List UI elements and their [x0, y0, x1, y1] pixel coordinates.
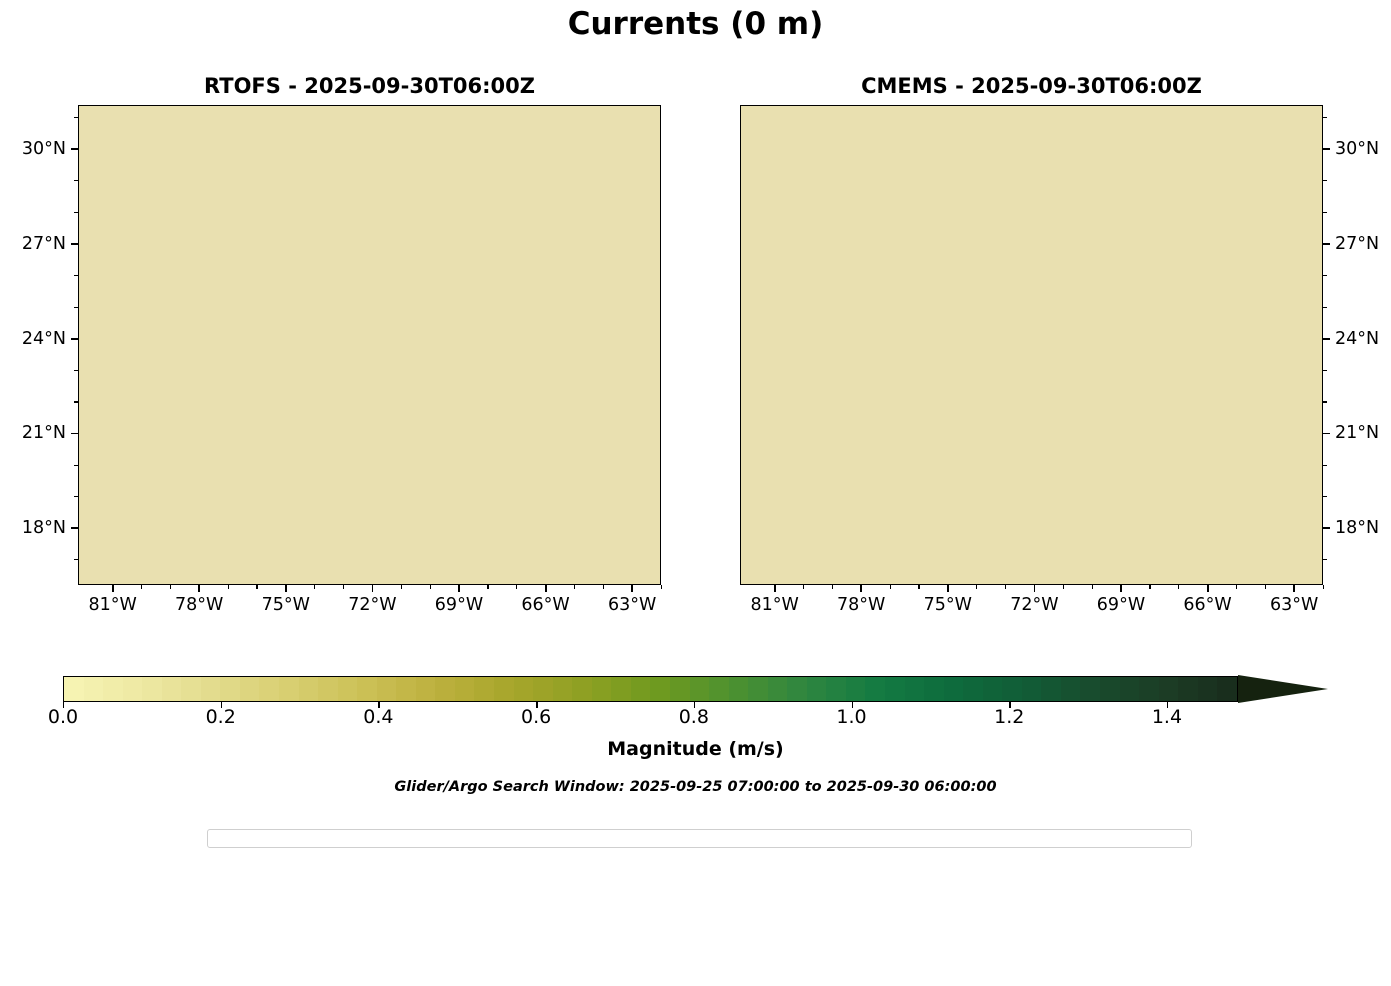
- x-tick-cmems: [774, 585, 776, 592]
- colorbar-band: [1217, 677, 1237, 701]
- x-tick-label-cmems: 81°W: [727, 595, 823, 615]
- figure-canvas: Currents (0 m) RTOFS - 2025-09-30T06:00Z…: [0, 0, 1391, 986]
- colorbar-tick-label: 0.4: [333, 706, 423, 728]
- x-minor-tick-rtofs: [343, 585, 344, 589]
- x-minor-tick-cmems: [1236, 585, 1237, 589]
- x-tick-rtofs: [545, 585, 547, 592]
- colorbar-band: [631, 677, 651, 701]
- colorbar-tick-label: 1.2: [964, 706, 1054, 728]
- x-tick-label-cmems: 72°W: [986, 595, 1082, 615]
- colorbar-band: [201, 677, 221, 701]
- y-minor-tick-cmems: [1323, 117, 1327, 118]
- colorbar-band: [162, 677, 182, 701]
- colorbar-band: [983, 677, 1003, 701]
- colorbar-band: [1159, 677, 1179, 701]
- colorbar-tick-label: 0.2: [176, 706, 266, 728]
- y-tick-label-cmems: 21°N: [1335, 423, 1391, 443]
- colorbar-tick-label: 0.6: [491, 706, 581, 728]
- colorbar-band: [142, 677, 162, 701]
- y-tick-label-rtofs: 30°N: [0, 139, 66, 159]
- colorbar-band: [1002, 677, 1022, 701]
- x-minor-tick-cmems: [1323, 585, 1324, 589]
- x-tick-label-cmems: 69°W: [1073, 595, 1169, 615]
- colorbar-band: [1022, 677, 1042, 701]
- y-tick-label-rtofs: 27°N: [0, 234, 66, 254]
- y-minor-tick-cmems: [1323, 180, 1327, 181]
- colorbar-band: [494, 677, 514, 701]
- x-minor-tick-rtofs: [516, 585, 517, 589]
- colorbar-axis-label: Magnitude (m/s): [0, 738, 1391, 760]
- y-tick-cmems: [1323, 433, 1330, 435]
- y-minor-tick-rtofs: [74, 180, 78, 181]
- colorbar-band: [181, 677, 201, 701]
- colorbar-band: [64, 677, 84, 701]
- colorbar-gradient: [63, 676, 1238, 702]
- colorbar-band: [826, 677, 846, 701]
- x-minor-tick-rtofs: [228, 585, 229, 589]
- x-tick-label-cmems: 78°W: [813, 595, 909, 615]
- y-tick-label-cmems: 24°N: [1335, 329, 1391, 349]
- y-minor-tick-cmems: [1323, 275, 1327, 276]
- colorbar-band: [768, 677, 788, 701]
- x-tick-label-rtofs: 66°W: [498, 595, 594, 615]
- colorbar-band: [611, 677, 631, 701]
- colorbar-tick-label: 0.8: [649, 706, 739, 728]
- y-minor-tick-rtofs: [74, 465, 78, 466]
- x-tick-cmems: [947, 585, 949, 592]
- colorbar[interactable]: [63, 676, 1328, 702]
- platform-legend[interactable]: [207, 829, 1192, 848]
- x-minor-tick-rtofs: [603, 585, 604, 589]
- x-tick-label-rtofs: 72°W: [324, 595, 420, 615]
- colorbar-band: [709, 677, 729, 701]
- y-tick-cmems: [1323, 527, 1330, 529]
- y-minor-tick-cmems: [1323, 496, 1327, 497]
- y-tick-rtofs: [71, 527, 78, 529]
- x-minor-tick-rtofs: [661, 585, 662, 589]
- colorbar-band: [729, 677, 749, 701]
- y-minor-tick-cmems: [1323, 465, 1327, 466]
- colorbar-band: [885, 677, 905, 701]
- colorbar-band: [572, 677, 592, 701]
- x-tick-rtofs: [112, 585, 114, 592]
- page-title: Currents (0 m): [0, 6, 1391, 42]
- colorbar-band: [553, 677, 573, 701]
- colorbar-band: [1080, 677, 1100, 701]
- colorbar-band: [963, 677, 983, 701]
- x-minor-tick-cmems: [1063, 585, 1064, 589]
- x-minor-tick-cmems: [803, 585, 804, 589]
- colorbar-band: [338, 677, 358, 701]
- colorbar-band: [220, 677, 240, 701]
- colorbar-band: [690, 677, 710, 701]
- y-tick-label-rtofs: 18°N: [0, 518, 66, 538]
- x-tick-rtofs: [198, 585, 200, 592]
- x-minor-tick-rtofs: [487, 585, 488, 589]
- colorbar-band: [103, 677, 123, 701]
- y-tick-label-rtofs: 24°N: [0, 329, 66, 349]
- y-minor-tick-cmems: [1323, 401, 1327, 402]
- x-tick-rtofs: [631, 585, 633, 592]
- colorbar-band: [846, 677, 866, 701]
- x-minor-tick-cmems: [1178, 585, 1179, 589]
- x-minor-tick-cmems: [976, 585, 977, 589]
- x-minor-tick-rtofs: [256, 585, 257, 589]
- x-minor-tick-rtofs: [314, 585, 315, 589]
- colorbar-band: [259, 677, 279, 701]
- y-minor-tick-cmems: [1323, 559, 1327, 560]
- colorbar-band: [1178, 677, 1198, 701]
- x-minor-tick-cmems: [1149, 585, 1150, 589]
- colorbar-band: [944, 677, 964, 701]
- y-tick-cmems: [1323, 243, 1330, 245]
- colorbar-band: [670, 677, 690, 701]
- y-minor-tick-rtofs: [74, 307, 78, 308]
- x-minor-tick-cmems: [1265, 585, 1266, 589]
- y-tick-label-cmems: 27°N: [1335, 234, 1391, 254]
- x-tick-label-rtofs: 75°W: [238, 595, 334, 615]
- y-minor-tick-cmems: [1323, 307, 1327, 308]
- y-minor-tick-rtofs: [74, 496, 78, 497]
- x-tick-rtofs: [458, 585, 460, 592]
- colorbar-band: [435, 677, 455, 701]
- x-tick-rtofs: [285, 585, 287, 592]
- x-minor-tick-cmems: [890, 585, 891, 589]
- x-minor-tick-cmems: [1005, 585, 1006, 589]
- x-tick-cmems: [1207, 585, 1209, 592]
- colorbar-band: [592, 677, 612, 701]
- y-minor-tick-rtofs: [74, 401, 78, 402]
- colorbar-band: [123, 677, 143, 701]
- colorbar-band: [1061, 677, 1081, 701]
- colorbar-band: [299, 677, 319, 701]
- x-tick-rtofs: [372, 585, 374, 592]
- x-tick-cmems: [1034, 585, 1036, 592]
- panel-title-cmems: CMEMS - 2025-09-30T06:00Z: [740, 74, 1323, 98]
- y-tick-rtofs: [71, 338, 78, 340]
- colorbar-band: [318, 677, 338, 701]
- x-tick-label-rtofs: 81°W: [65, 595, 161, 615]
- x-minor-tick-rtofs: [430, 585, 431, 589]
- y-tick-rtofs: [71, 433, 78, 435]
- x-minor-tick-cmems: [832, 585, 833, 589]
- colorbar-band: [377, 677, 397, 701]
- colorbar-band: [905, 677, 925, 701]
- colorbar-band: [787, 677, 807, 701]
- colorbar-tick-label: 1.0: [807, 706, 897, 728]
- x-minor-tick-rtofs: [401, 585, 402, 589]
- x-minor-tick-cmems: [918, 585, 919, 589]
- map-panel-rtofs[interactable]: [78, 105, 661, 585]
- colorbar-extend-max-arrow: [1238, 675, 1328, 703]
- y-minor-tick-rtofs: [74, 370, 78, 371]
- colorbar-band: [357, 677, 377, 701]
- colorbar-band: [807, 677, 827, 701]
- colorbar-band: [514, 677, 534, 701]
- colorbar-band: [1120, 677, 1140, 701]
- colorbar-band: [455, 677, 475, 701]
- colorbar-band: [865, 677, 885, 701]
- y-minor-tick-rtofs: [74, 275, 78, 276]
- y-minor-tick-cmems: [1323, 370, 1327, 371]
- x-tick-label-rtofs: 78°W: [151, 595, 247, 615]
- colorbar-band: [924, 677, 944, 701]
- panel-title-rtofs: RTOFS - 2025-09-30T06:00Z: [78, 74, 661, 98]
- colorbar-band: [533, 677, 553, 701]
- colorbar-band: [416, 677, 436, 701]
- colorbar-tick-label: 1.4: [1122, 706, 1212, 728]
- y-tick-rtofs: [71, 148, 78, 150]
- x-tick-label-cmems: 66°W: [1160, 595, 1256, 615]
- colorbar-band: [240, 677, 260, 701]
- colorbar-band: [279, 677, 299, 701]
- colorbar-band: [1139, 677, 1159, 701]
- x-minor-tick-cmems: [1092, 585, 1093, 589]
- y-minor-tick-rtofs: [74, 559, 78, 560]
- x-tick-label-cmems: 75°W: [900, 595, 996, 615]
- x-tick-cmems: [860, 585, 862, 592]
- x-minor-tick-rtofs: [574, 585, 575, 589]
- map-panel-cmems[interactable]: [740, 105, 1323, 585]
- colorbar-band: [396, 677, 416, 701]
- colorbar-band: [650, 677, 670, 701]
- colorbar-band: [1100, 677, 1120, 701]
- y-tick-label-rtofs: 21°N: [0, 423, 66, 443]
- colorbar-band: [1041, 677, 1061, 701]
- colorbar-band: [474, 677, 494, 701]
- x-tick-label-rtofs: 63°W: [584, 595, 680, 615]
- y-minor-tick-rtofs: [74, 212, 78, 213]
- colorbar-tick-label: 0.0: [18, 706, 108, 728]
- x-tick-label-cmems: 63°W: [1246, 595, 1342, 615]
- colorbar-band: [1198, 677, 1218, 701]
- x-tick-label-rtofs: 69°W: [411, 595, 507, 615]
- y-tick-label-cmems: 18°N: [1335, 518, 1391, 538]
- search-window-caption: Glider/Argo Search Window: 2025-09-25 07…: [0, 779, 1391, 795]
- y-minor-tick-rtofs: [74, 117, 78, 118]
- colorbar-band: [748, 677, 768, 701]
- y-tick-label-cmems: 30°N: [1335, 139, 1391, 159]
- y-minor-tick-cmems: [1323, 212, 1327, 213]
- x-minor-tick-rtofs: [141, 585, 142, 589]
- colorbar-band: [84, 677, 104, 701]
- x-minor-tick-rtofs: [170, 585, 171, 589]
- x-tick-cmems: [1120, 585, 1122, 592]
- y-tick-rtofs: [71, 243, 78, 245]
- y-tick-cmems: [1323, 338, 1330, 340]
- y-tick-cmems: [1323, 148, 1330, 150]
- x-tick-cmems: [1293, 585, 1295, 592]
